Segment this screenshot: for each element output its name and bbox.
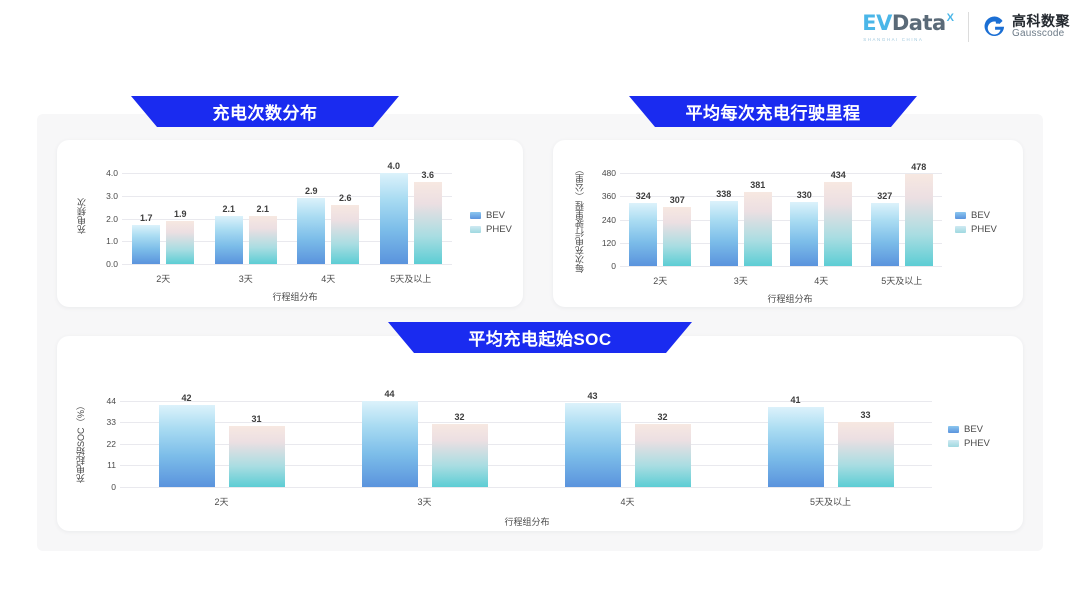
legend-swatch-bev-icon	[955, 212, 966, 219]
x-axis-tick-4天: 4天	[620, 495, 634, 508]
y-axis-tick-4.0: 4.0	[106, 168, 118, 178]
bar-value-label: 330	[797, 190, 812, 200]
evdata-word-data: Data	[892, 11, 946, 35]
x-axis-tick-5天及以上: 5天及以上	[881, 274, 922, 287]
bar-phev-3天	[744, 192, 772, 266]
bar-series-1	[122, 164, 452, 264]
x-axis-tick-4天: 4天	[321, 272, 335, 285]
legend-item-bev[interactable]: BEV	[955, 210, 997, 221]
x-axis-tick-2天: 2天	[653, 274, 667, 287]
chart-title-1: 充电次数分布	[209, 99, 322, 124]
bar-phev-5天及以上	[838, 422, 894, 487]
bar-bev-2天	[159, 405, 215, 487]
y-axis-label-line: 每次充电行驶里程	[575, 201, 585, 273]
bar-value-label: 43	[587, 391, 597, 401]
y-axis-tick-0.0: 0.0	[106, 259, 118, 269]
x-axis-label-3: 行程组分布	[504, 515, 549, 528]
bar-series-2	[620, 164, 942, 266]
bar-value-label: 2.9	[305, 186, 318, 196]
y-axis-tick-1.0: 1.0	[106, 236, 118, 246]
y-axis-tick-44: 44	[107, 396, 116, 406]
bar-value-label: 44	[384, 389, 394, 399]
bar-value-label: 3.6	[421, 170, 434, 180]
legend-item-phev[interactable]: PHEV	[955, 224, 997, 235]
legend-swatch-phev-icon	[948, 440, 959, 447]
bar-value-label: 4.0	[387, 161, 400, 171]
legend-label-bev: BEV	[964, 424, 983, 435]
bar-bev-5天及以上	[768, 407, 824, 487]
bar-series-3	[120, 392, 932, 487]
y-axis-tick-2.0: 2.0	[106, 214, 118, 224]
bar-phev-5天及以上	[414, 182, 442, 264]
y-axis-tick-120: 120	[602, 238, 616, 248]
legend-item-bev[interactable]: BEV	[470, 210, 512, 221]
y-axis-label-line: （公里）	[575, 165, 585, 201]
x-axis-tick-5天及以上: 5天及以上	[390, 272, 431, 285]
y-axis-label-2: 每次充电行驶里程（公里）	[575, 164, 585, 274]
y-axis-tick-33: 33	[107, 417, 116, 427]
bar-bev-4天	[565, 403, 621, 487]
bar-phev-3天	[249, 216, 277, 264]
bar-phev-2天	[229, 426, 285, 487]
x-axis-tick-2天: 2天	[156, 272, 170, 285]
y-axis-tick-22: 22	[107, 439, 116, 449]
x-axis-tick-2天: 2天	[214, 495, 228, 508]
legend-label-bev: BEV	[971, 210, 990, 221]
bar-phev-3天	[432, 424, 488, 487]
bar-value-label: 33	[860, 410, 870, 420]
gausscode-name-cn: 高科数聚	[1012, 14, 1070, 29]
legend-swatch-phev-icon	[955, 226, 966, 233]
evdata-wordmark: EVData X	[862, 13, 954, 34]
chart-title-banner-2: 平均每次充电行驶里程	[629, 96, 917, 127]
bar-bev-4天	[297, 198, 325, 264]
legend-1: BEVPHEV	[470, 210, 512, 235]
x-axis-tick-3天: 3天	[734, 274, 748, 287]
legend-swatch-bev-icon	[470, 212, 481, 219]
bar-bev-5天及以上	[871, 203, 899, 266]
bar-value-label: 1.7	[140, 213, 153, 223]
x-axis-tick-5天及以上: 5天及以上	[810, 495, 851, 508]
x-axis-tick-3天: 3天	[239, 272, 253, 285]
chart-title-3: 平均充电起始SOC	[464, 325, 615, 350]
legend-2: BEVPHEV	[955, 210, 997, 235]
x-axis-tick-3天: 3天	[417, 495, 431, 508]
bar-bev-3天	[710, 201, 738, 266]
y-axis-tick-3.0: 3.0	[106, 191, 118, 201]
gridline	[620, 266, 942, 267]
x-axis-label-2: 行程组分布	[767, 292, 812, 305]
bar-value-label: 32	[657, 412, 667, 422]
gausscode-logo: 高科数聚 Gausscode	[983, 14, 1070, 39]
bar-value-label: 338	[716, 189, 731, 199]
legend-swatch-bev-icon	[948, 426, 959, 433]
evdata-logo: EVData X SHANGHAI CHINA	[862, 13, 954, 42]
gausscode-text: 高科数聚 Gausscode	[1012, 14, 1070, 39]
legend-label-phev: PHEV	[964, 438, 990, 449]
gridline	[122, 264, 452, 265]
bar-bev-2天	[132, 225, 160, 264]
chart-title-banner-1: 充电次数分布	[131, 96, 399, 127]
y-axis-label-1: 充电频次	[77, 180, 87, 252]
y-axis-tick-11: 11	[107, 460, 116, 470]
bar-value-label: 41	[790, 395, 800, 405]
bar-phev-2天	[663, 207, 691, 266]
legend-label-phev: PHEV	[486, 224, 512, 235]
y-axis-label-line: 充电起始SOC	[76, 427, 86, 483]
bar-value-label: 2.1	[256, 204, 269, 214]
bar-value-label: 2.6	[339, 193, 352, 203]
bar-value-label: 381	[750, 180, 765, 190]
legend-label-phev: PHEV	[971, 224, 997, 235]
legend-item-phev[interactable]: PHEV	[470, 224, 512, 235]
bar-value-label: 1.9	[174, 209, 187, 219]
x-axis-tick-4天: 4天	[814, 274, 828, 287]
chart-title-banner-3: 平均充电起始SOC	[388, 322, 692, 353]
gausscode-g-mark-icon	[983, 16, 1006, 39]
y-axis-tick-360: 360	[602, 191, 616, 201]
logo-divider	[968, 12, 969, 42]
y-axis-tick-240: 240	[602, 215, 616, 225]
bar-phev-2天	[166, 221, 194, 264]
bar-value-label: 31	[251, 414, 261, 424]
bar-value-label: 2.1	[222, 204, 235, 214]
legend-swatch-phev-icon	[470, 226, 481, 233]
evdata-superscript-x-icon: X	[947, 12, 954, 24]
bar-bev-4天	[790, 202, 818, 266]
bar-phev-4天	[331, 205, 359, 264]
x-axis-label-1: 行程组分布	[272, 290, 317, 303]
legend-3: BEVPHEV	[948, 424, 990, 449]
gridline	[120, 487, 932, 488]
logo-group: EVData X SHANGHAI CHINA 高科数聚 Gausscode	[862, 12, 1070, 42]
legend-item-phev[interactable]: PHEV	[948, 438, 990, 449]
y-axis-tick-480: 480	[602, 168, 616, 178]
y-axis-label-line: （%）	[76, 401, 86, 427]
y-axis-label-line: 充电频次	[77, 198, 87, 234]
bar-phev-4天	[635, 424, 691, 487]
bar-value-label: 478	[911, 162, 926, 172]
bar-phev-5天及以上	[905, 174, 933, 266]
bar-bev-3天	[215, 216, 243, 264]
bar-phev-4天	[824, 182, 852, 266]
evdata-word-ev: EV	[862, 11, 892, 35]
evdata-tagline: SHANGHAI CHINA	[863, 37, 923, 42]
bar-value-label: 324	[636, 191, 651, 201]
bar-bev-5天及以上	[380, 173, 408, 264]
bar-value-label: 32	[454, 412, 464, 422]
evdata-word: EVData	[862, 13, 945, 34]
legend-item-bev[interactable]: BEV	[948, 424, 990, 435]
y-axis-label-3: 充电起始SOC（%）	[76, 392, 86, 492]
bar-value-label: 307	[670, 195, 685, 205]
bar-value-label: 434	[831, 170, 846, 180]
y-axis-tick-0: 0	[611, 261, 616, 271]
bar-value-label: 42	[181, 393, 191, 403]
bar-bev-2天	[629, 203, 657, 266]
page-header: EVData X SHANGHAI CHINA 高科数聚 Gausscode	[0, 0, 1080, 64]
bar-bev-3天	[362, 401, 418, 487]
bar-value-label: 327	[877, 191, 892, 201]
gausscode-name-en: Gausscode	[1012, 29, 1070, 40]
chart-title-2: 平均每次充电行驶里程	[682, 99, 865, 124]
legend-label-bev: BEV	[486, 210, 505, 221]
y-axis-tick-0: 0	[111, 482, 116, 492]
